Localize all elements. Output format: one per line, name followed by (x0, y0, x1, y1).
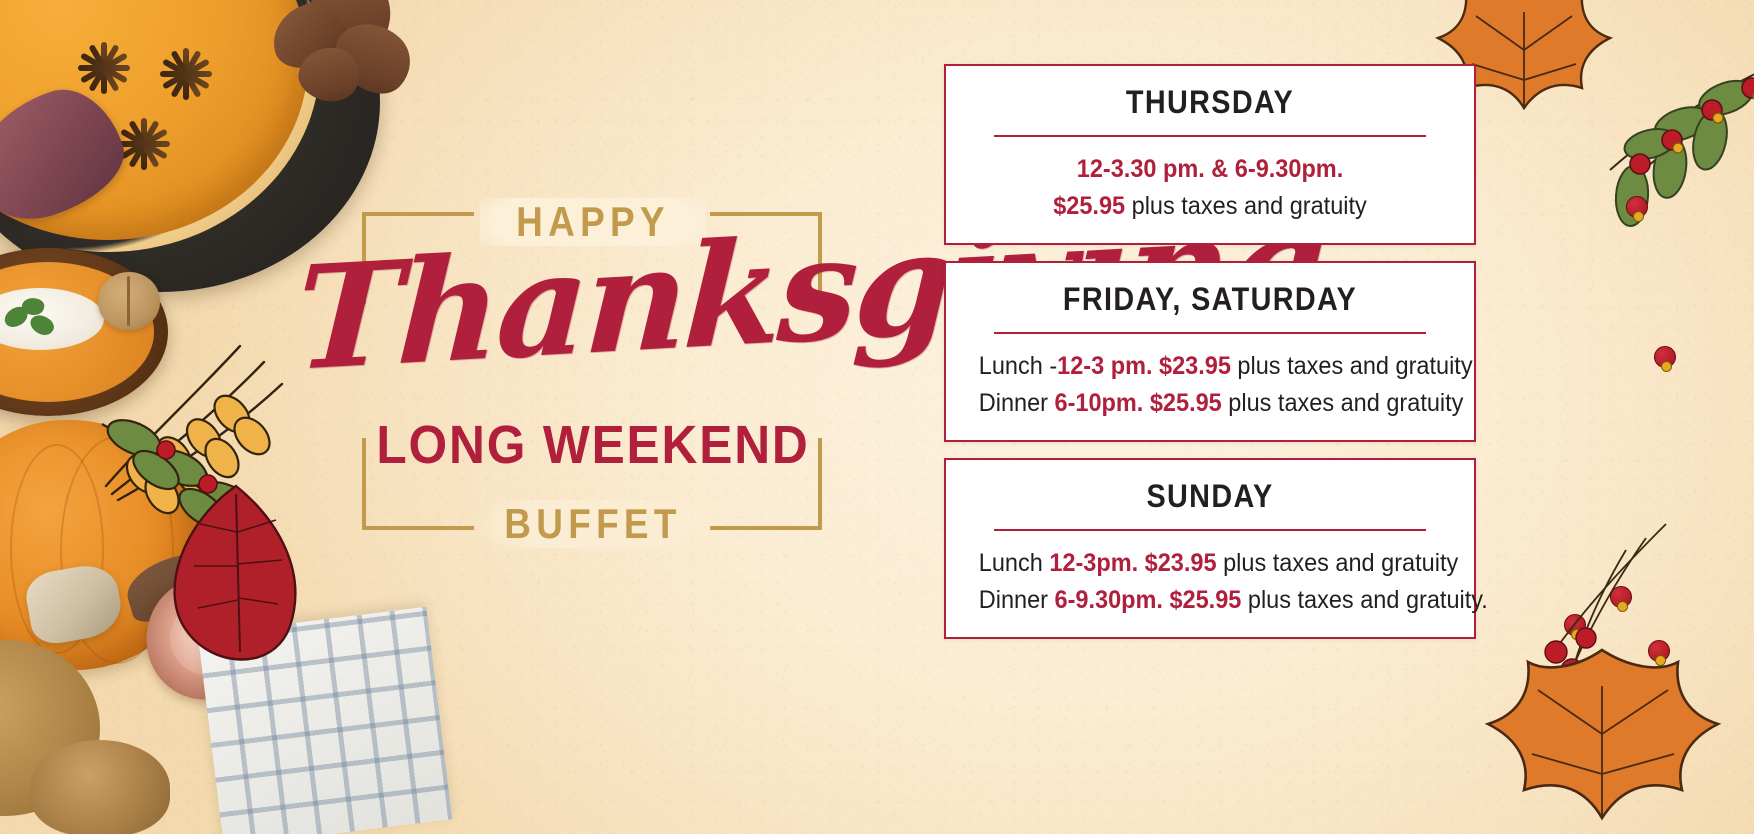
bread-roll (30, 740, 170, 834)
card-divider (994, 332, 1426, 334)
card-line: Dinner 6-9.30pm. $25.95 plus taxes and g… (979, 582, 1441, 619)
card-line-segment: $25.95 (1053, 192, 1125, 220)
card-title: THURSDAY (989, 84, 1432, 121)
card-line-segment: Dinner (979, 586, 1055, 614)
card-line-segment: plus taxes and gratuity (1231, 352, 1473, 380)
card-line-segment: Lunch - (979, 352, 1057, 380)
schedule-card-friday-saturday: FRIDAY, SATURDAY Lunch -12-3 pm. $23.95 … (944, 261, 1476, 442)
orange-maple-leaf-icon (1434, 634, 1754, 834)
center-title-lockup: HAPPY Thanksgiving LONG WEEKEND BUFFET (348, 196, 838, 544)
star-anise-icon (118, 118, 170, 170)
card-line: Lunch -12-3 pm. $23.95 plus taxes and gr… (979, 348, 1441, 385)
star-anise-icon (78, 42, 130, 94)
buffet-schedule-cards: THURSDAY 12-3.30 pm. & 6-9.30pm. $25.95 … (944, 64, 1476, 639)
olive-berry-sprig-icon (1514, 44, 1754, 264)
red-berry-icon (1626, 196, 1648, 218)
card-line-segment: plus taxes and gratuity (1222, 389, 1464, 417)
card-line: Lunch 12-3pm. $23.95 plus taxes and grat… (979, 545, 1441, 582)
card-line: $25.95 plus taxes and gratuity (979, 188, 1441, 225)
card-line-segment: 6-9.30pm. $25.95 (1055, 586, 1242, 614)
card-line-segment: plus taxes and gratuity (1125, 192, 1367, 220)
card-line-segment: 12-3pm. $23.95 (1049, 549, 1216, 577)
thanksgiving-buffet-banner: HAPPY Thanksgiving LONG WEEKEND BUFFET T… (0, 0, 1754, 834)
card-title: FRIDAY, SATURDAY (989, 281, 1432, 318)
card-line-segment: Dinner (979, 389, 1055, 417)
red-berry-icon (1654, 346, 1676, 368)
footer-buffet: BUFFET (504, 500, 681, 548)
card-divider (994, 529, 1426, 531)
script-title-thanksgiving: Thanksgiving (293, 215, 893, 391)
schedule-card-sunday: SUNDAY Lunch 12-3pm. $23.95 plus taxes a… (944, 458, 1476, 639)
parsley-garnish-icon (4, 298, 60, 340)
card-line-segment: 12-3 pm. $23.95 (1057, 352, 1231, 380)
red-illustrated-leaf-icon (150, 480, 320, 670)
card-line-segment: plus taxes and gratuity (1217, 549, 1459, 577)
card-line-segment: 12-3.30 pm. & 6-9.30pm. (1077, 155, 1343, 183)
footer-wrap: BUFFET (466, 500, 720, 548)
schedule-card-thursday: THURSDAY 12-3.30 pm. & 6-9.30pm. $25.95 … (944, 64, 1476, 245)
card-title: SUNDAY (989, 478, 1432, 515)
card-line-segment: 6-10pm. $25.95 (1055, 389, 1222, 417)
star-anise-icon (160, 48, 212, 100)
card-divider (994, 135, 1426, 137)
card-line-segment: plus taxes and gratuity. (1241, 586, 1487, 614)
card-line-segment: Lunch (979, 549, 1050, 577)
subtitle-long-weekend: LONG WEEKEND (368, 414, 819, 476)
card-line: 12-3.30 pm. & 6-9.30pm. (979, 151, 1441, 188)
card-line: Dinner 6-10pm. $25.95 plus taxes and gra… (979, 385, 1441, 422)
